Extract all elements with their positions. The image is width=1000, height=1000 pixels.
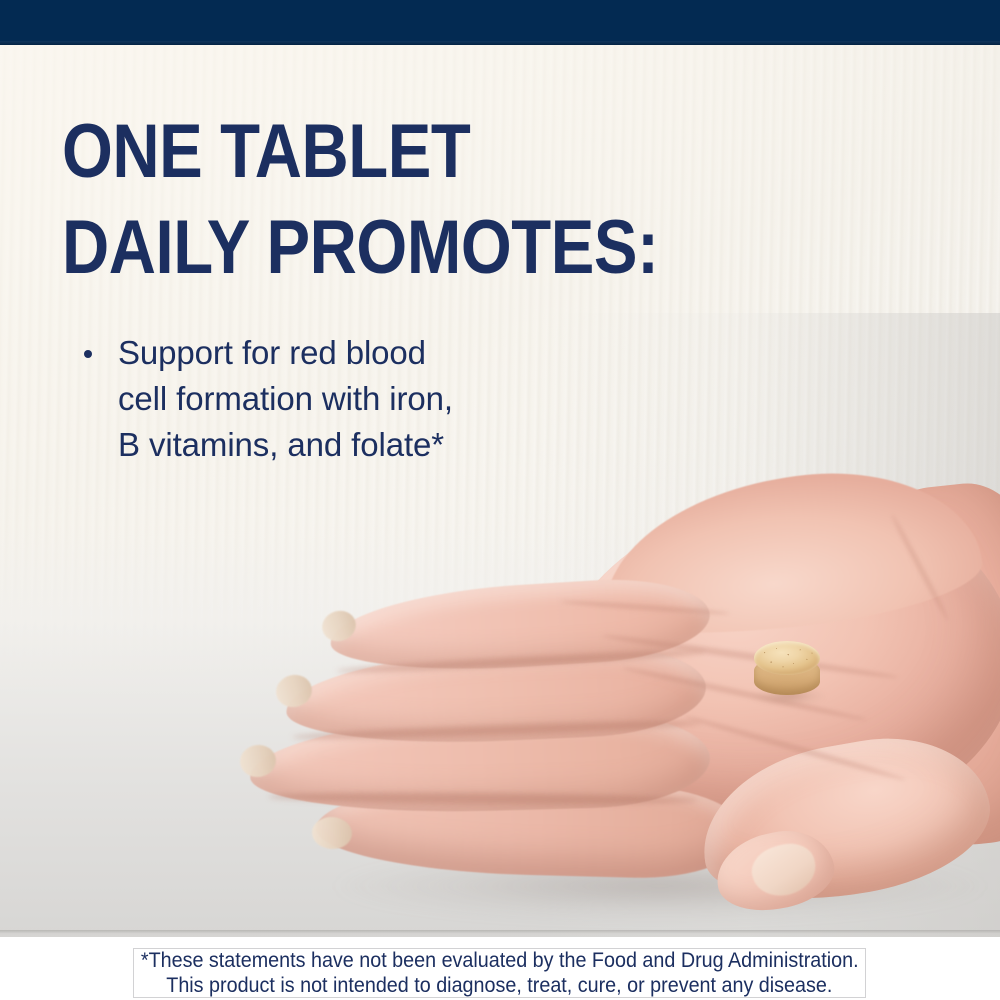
top-navy-bar xyxy=(0,0,1000,45)
disclaimer-line-2: This product is not intended to diagnose… xyxy=(166,973,832,998)
headline-line-1: ONE TABLET xyxy=(62,104,658,200)
disclaimer-line-1: *These statements have not been evaluate… xyxy=(141,948,859,973)
disclaimer-box: *These statements have not been evaluate… xyxy=(133,948,866,998)
top-bar-shadow xyxy=(0,41,1000,45)
footer: *These statements have not been evaluate… xyxy=(0,937,1000,1000)
bullet-dot-icon xyxy=(84,350,92,358)
page-title: ONE TABLET DAILY PROMOTES: xyxy=(62,104,658,296)
product-infographic-page: ONE TABLET DAILY PROMOTES: Support for r… xyxy=(0,0,1000,1000)
benefits-list: Support for red blood cell formation wit… xyxy=(70,330,453,468)
bullet-line-1: Support for red blood xyxy=(118,330,453,376)
list-item: Support for red blood cell formation wit… xyxy=(70,330,453,468)
tablet-icon xyxy=(752,641,824,703)
headline-line-2: DAILY PROMOTES: xyxy=(62,200,658,296)
tablet-speckle-texture xyxy=(754,641,820,675)
bullet-line-3: B vitamins, and folate* xyxy=(118,422,453,468)
bullet-line-2: cell formation with iron, xyxy=(118,376,453,422)
